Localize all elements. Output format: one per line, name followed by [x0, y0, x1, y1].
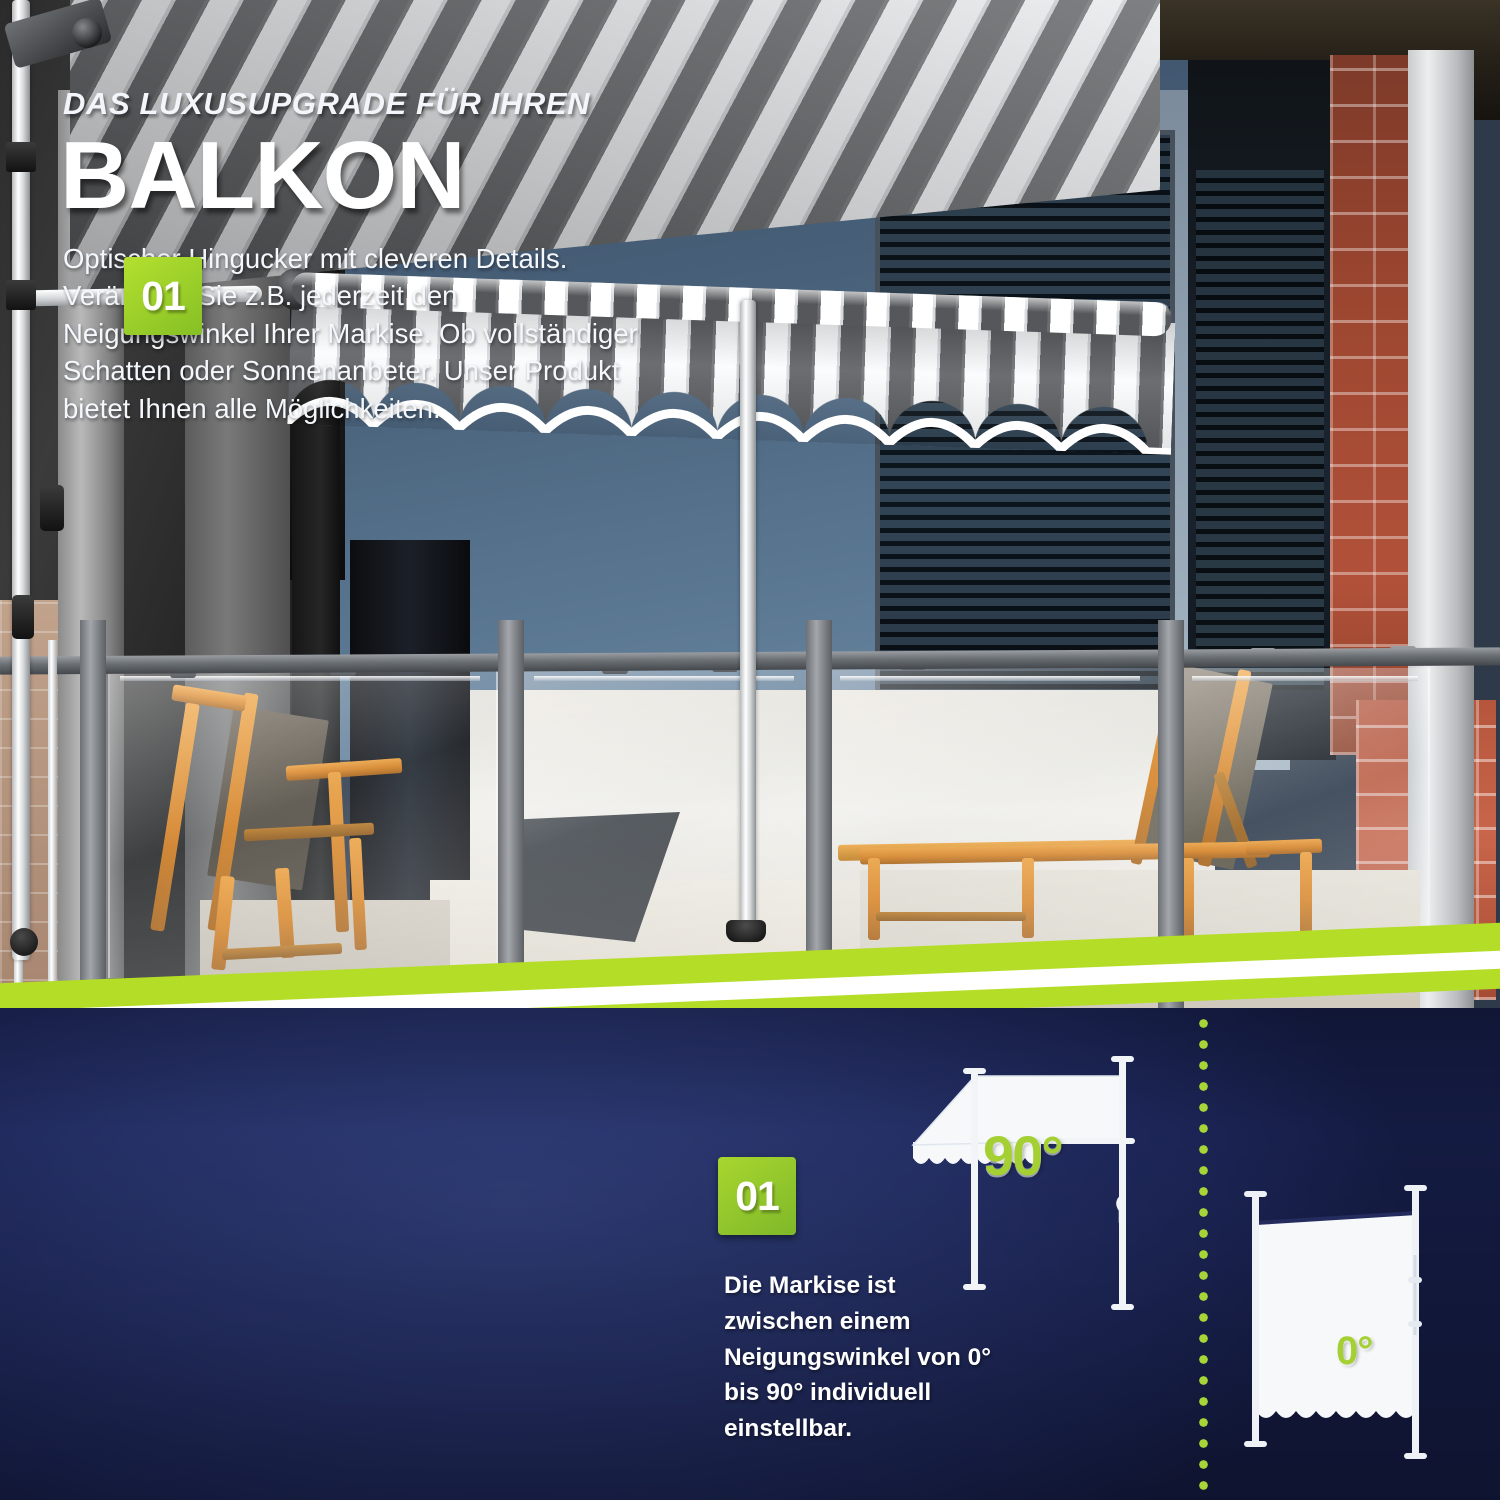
pole-adjuster-knob [10, 928, 38, 956]
railing-post [1158, 620, 1184, 1010]
pole-clamp [6, 280, 36, 310]
angle-label-90: 90° [983, 1128, 1062, 1184]
awning-illustration-0-degrees: 0° [1238, 1185, 1483, 1490]
callout-badge-01-photo: 01 [124, 257, 202, 335]
callout-badge-01: 01 [718, 1157, 796, 1235]
window-with-blinds-secondary [1196, 170, 1324, 690]
pole-foot-center [726, 920, 766, 942]
callout-badge-01-photo-label: 01 [141, 273, 185, 320]
product-marketing-graphic: 01 DAS LUXUSUPGRADE FÜR IHREN BALKON Opt… [0, 0, 1500, 1500]
vertical-support-rail [48, 640, 57, 1010]
pole-clamp [6, 142, 36, 172]
railing-post [806, 620, 832, 1010]
awning-illustration-90-degrees: 90° [905, 1050, 1185, 1320]
pole-clamp [12, 595, 34, 639]
panel-headline: BALKON [60, 128, 465, 224]
dotted-vertical-divider [1198, 1018, 1209, 1496]
railing-glass-panel [520, 668, 810, 978]
panel-kicker: DAS LUXUSUPGRADE FÜR IHREN [63, 86, 683, 122]
railing-post [80, 620, 106, 1010]
railing-post [498, 620, 524, 1010]
angle-label-0: 0° [1336, 1331, 1372, 1371]
awning-hinge-knob [72, 18, 102, 48]
railing-glass-panel [1180, 668, 1430, 978]
callout-badge-01-label: 01 [735, 1173, 779, 1220]
railing-inner-rail [1192, 676, 1418, 681]
awning-pole-center [740, 300, 756, 940]
railing-inner-rail [840, 676, 1140, 681]
railing-glass-panel [108, 668, 498, 978]
railing-glass-panel [830, 668, 1160, 978]
pole-clamp [40, 485, 64, 531]
